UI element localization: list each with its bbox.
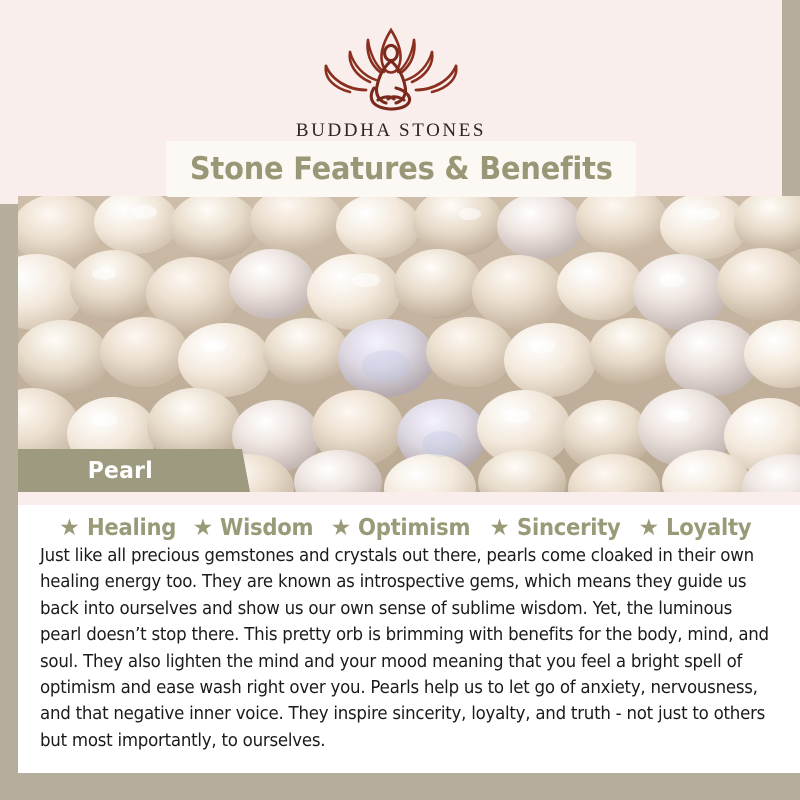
keyword-label: Loyalty	[666, 515, 751, 541]
photo-caption-label: Pearl	[88, 458, 153, 484]
photo-caption-bar: Pearl	[18, 449, 250, 492]
keyword-label: Sincerity	[517, 515, 621, 541]
star-icon: ★	[331, 516, 352, 539]
brand-logo: BUDDHA STONES	[0, 22, 782, 142]
benefit-keywords: ★ Healing ★ Wisdom ★ Optimism ★ Sincerit…	[40, 515, 778, 541]
page-title: Stone Features & Benefits	[190, 151, 613, 187]
keyword-loyalty: ★ Loyalty	[638, 515, 758, 541]
photo-bottom-separator	[18, 492, 800, 505]
keyword-label: Healing	[87, 515, 176, 541]
lotus-meditation-icon	[300, 22, 482, 114]
pearl-photo-graphic	[18, 196, 800, 492]
keyword-optimism: ★ Optimism	[331, 515, 481, 541]
title-plate: Stone Features & Benefits	[166, 141, 636, 197]
keyword-healing: ★ Healing	[59, 515, 184, 541]
brand-name: BUDDHA STONES	[296, 120, 486, 142]
star-icon: ★	[489, 516, 510, 539]
pearl-photo	[18, 196, 800, 492]
keyword-label: Optimism	[358, 515, 470, 541]
star-icon: ★	[193, 516, 214, 539]
star-icon: ★	[638, 516, 659, 539]
keyword-wisdom: ★ Wisdom	[193, 515, 322, 541]
keyword-sincerity: ★ Sincerity	[489, 515, 629, 541]
star-icon: ★	[59, 516, 80, 539]
content-area: ★ Healing ★ Wisdom ★ Optimism ★ Sincerit…	[18, 505, 800, 773]
infographic-card: BUDDHA STONES Stone Features & Benefits	[0, 0, 800, 800]
description-paragraph: Just like all precious gemstones and cry…	[40, 543, 776, 754]
keyword-label: Wisdom	[220, 515, 313, 541]
